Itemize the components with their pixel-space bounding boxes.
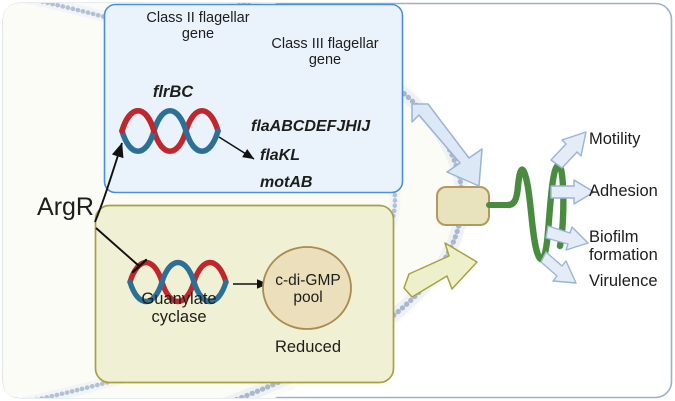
cdigmp-pool-label: c-di-GMP pool <box>262 272 354 307</box>
output-label-virulence: Virulence <box>589 272 675 290</box>
gene-flrbc-label: flrBC <box>130 83 216 101</box>
gene-flakl-label: flaKL <box>260 147 380 165</box>
argr-label: ArgR <box>28 193 103 221</box>
output-label-motility: Motility <box>589 130 675 148</box>
gene-motab-label: motAB <box>260 174 380 192</box>
cdigmp-reduced-label: Reduced <box>262 338 354 356</box>
gene-flaabcdefjhij-label: flaABCDEFJHIJ <box>251 118 401 136</box>
figure-canvas: Class II flagellar gene Class III flagel… <box>0 0 675 401</box>
flagellar-motor-body <box>437 187 489 225</box>
class3-gene-label: Class III flagellar gene <box>250 36 400 68</box>
output-label-biofilm-formation: Biofilm formation <box>589 228 675 265</box>
guanylate-cyclase-label: Guanylate cyclase <box>124 290 234 327</box>
output-label-adhesion: Adhesion <box>589 182 675 200</box>
